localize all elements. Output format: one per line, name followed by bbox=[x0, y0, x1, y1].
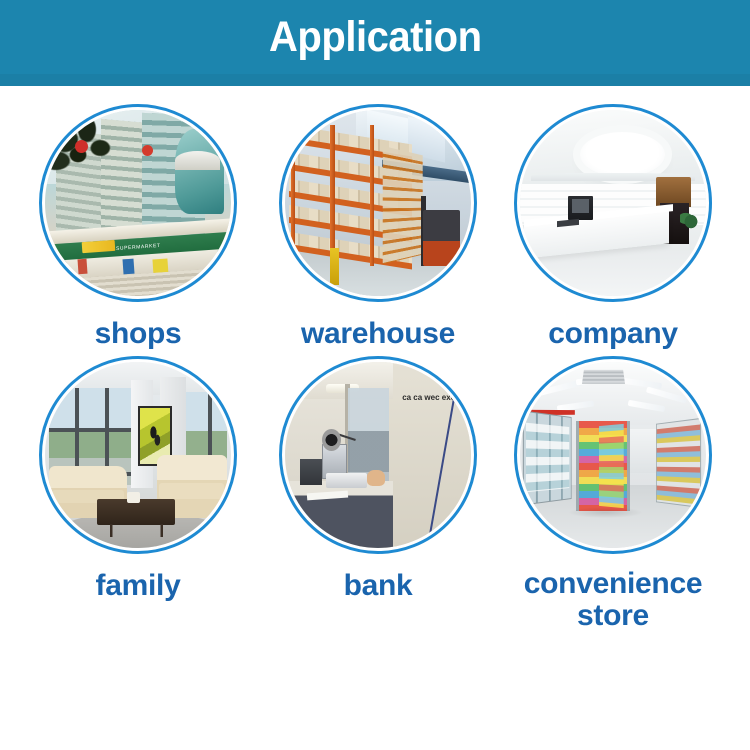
application-label-company: company bbox=[548, 318, 678, 350]
application-label-bank: bank bbox=[344, 570, 413, 602]
application-item-family[interactable]: family bbox=[13, 356, 263, 632]
bank-wall-text: ca ca wec excha bbox=[402, 392, 465, 404]
warehouse-photo-icon bbox=[285, 110, 471, 296]
convenience-store-photo-icon bbox=[520, 362, 706, 548]
bank-circle-frame: ca ca wec excha bbox=[279, 356, 477, 554]
header-underline bbox=[0, 74, 750, 86]
application-row-2: family ca ca wec excha bbox=[0, 356, 750, 632]
application-grid: SUPERMARKET shops bbox=[0, 86, 750, 631]
application-item-convenience-store[interactable]: convenience store bbox=[488, 356, 738, 632]
shops-photo-icon: SUPERMARKET bbox=[45, 110, 231, 296]
application-label-family: family bbox=[96, 570, 181, 602]
application-item-company[interactable]: company bbox=[488, 104, 738, 350]
warehouse-circle-frame bbox=[279, 104, 477, 302]
application-item-shops[interactable]: SUPERMARKET shops bbox=[13, 104, 263, 350]
page-header-banner: Application bbox=[0, 0, 750, 74]
bank-photo-icon: ca ca wec excha bbox=[285, 362, 471, 548]
page-title: Application bbox=[269, 16, 482, 59]
application-row-1: SUPERMARKET shops bbox=[0, 104, 750, 350]
convenience-store-circle-frame bbox=[514, 356, 712, 554]
application-item-warehouse[interactable]: warehouse bbox=[253, 104, 503, 350]
company-circle-frame bbox=[514, 104, 712, 302]
application-label-convenience-store: convenience store bbox=[524, 568, 702, 632]
shops-circle-frame: SUPERMARKET bbox=[39, 104, 237, 302]
family-circle-frame bbox=[39, 356, 237, 554]
application-label-shops: shops bbox=[95, 318, 182, 350]
application-label-warehouse: warehouse bbox=[301, 318, 455, 350]
company-photo-icon bbox=[520, 110, 706, 296]
family-photo-icon bbox=[45, 362, 231, 548]
application-item-bank[interactable]: ca ca wec excha bbox=[253, 356, 503, 632]
